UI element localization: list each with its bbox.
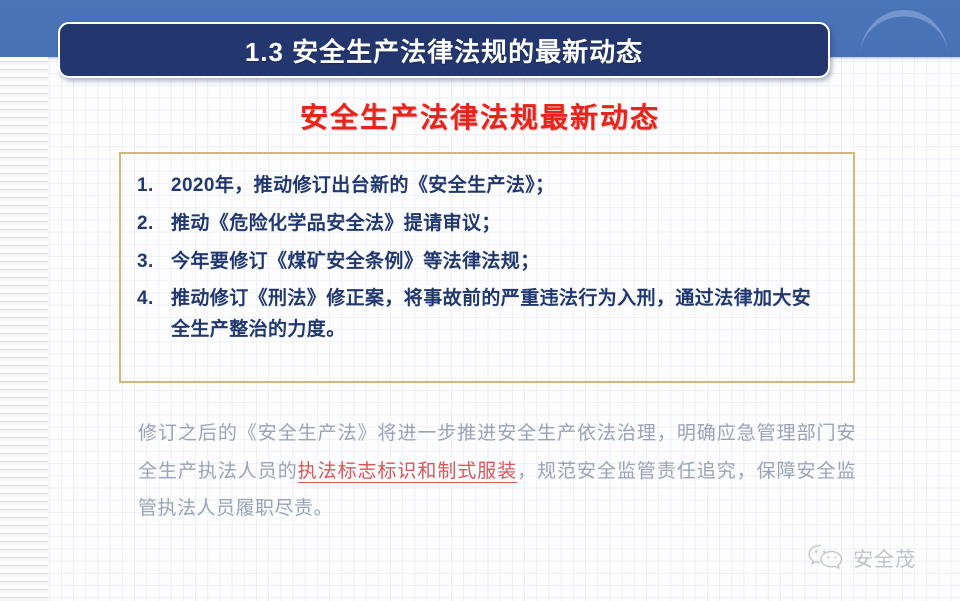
wechat-icon bbox=[806, 542, 846, 572]
list-item-text: 推动《危险化学品安全法》提请审议； bbox=[171, 209, 837, 240]
list-item-number: 2. bbox=[137, 209, 171, 240]
list-item: 3. 今年要修订《煤矿安全条例》等法律法规； bbox=[137, 247, 837, 278]
list-item-number: 4. bbox=[137, 284, 171, 315]
paragraph-highlight: 执法标志标识和制式服装 bbox=[298, 461, 518, 483]
list-item: 4. 推动修订《刑法》修正案，将事故前的严重违法行为入刑，通过法律加大安全生产整… bbox=[137, 284, 837, 346]
list-item-text: 推动修订《刑法》修正案，将事故前的严重违法行为入刑，通过法律加大安全生产整治的力… bbox=[171, 284, 837, 346]
watermark-text: 安全茂 bbox=[853, 543, 916, 572]
list-item-text: 2020年，推动修订出台新的《安全生产法》； bbox=[171, 171, 837, 202]
list-item: 1. 2020年，推动修订出台新的《安全生产法》； bbox=[137, 171, 837, 202]
list-item-number: 3. bbox=[137, 247, 171, 278]
footer-paragraph: 修订之后的《安全生产法》将进一步推进安全生产依法治理，明确应急管理部门安全生产执… bbox=[138, 415, 856, 528]
list-item: 2. 推动《危险化学品安全法》提请审议； bbox=[137, 209, 837, 240]
numbered-list: 1. 2020年，推动修订出台新的《安全生产法》； 2. 推动《危险化学品安全法… bbox=[121, 154, 853, 346]
numbered-list-box: 1. 2020年，推动修订出台新的《安全生产法》； 2. 推动《危险化学品安全法… bbox=[119, 152, 855, 383]
title-banner: 1.3 安全生产法律法规的最新动态 bbox=[58, 22, 830, 78]
list-item-text: 今年要修订《煤矿安全条例》等法律法规； bbox=[171, 247, 837, 278]
left-stripe-texture bbox=[0, 57, 48, 601]
banner-title-text: 1.3 安全生产法律法规的最新动态 bbox=[245, 32, 643, 69]
watermark: 安全茂 bbox=[806, 542, 916, 572]
section-heading: 安全生产法律法规最新动态 bbox=[0, 96, 960, 136]
slide-canvas: 1.3 安全生产法律法规的最新动态 安全生产法律法规最新动态 1. 2020年，… bbox=[0, 0, 960, 601]
list-item-number: 1. bbox=[137, 171, 171, 202]
